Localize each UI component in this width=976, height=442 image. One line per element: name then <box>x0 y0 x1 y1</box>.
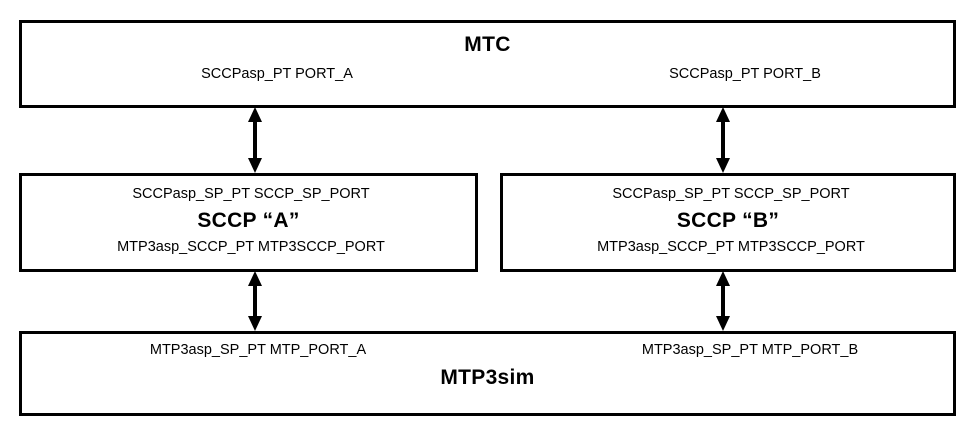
connector-sccp-a-to-mtp3sim-double-arrow-icon <box>243 271 267 331</box>
mtc-title: MTC <box>22 33 953 57</box>
component-box-sccp-a: SCCPasp_SP_PT SCCP_SP_PORT SCCP “A” MTP3… <box>19 173 478 272</box>
mtp3sim-port-a-label: MTP3asp_SP_PT MTP_PORT_A <box>150 342 366 358</box>
sccp-a-upper-ports-label: SCCPasp_SP_PT SCCP_SP_PORT <box>132 186 369 202</box>
component-box-mtc: MTC SCCPasp_PT PORT_A SCCPasp_PT PORT_B <box>19 20 956 108</box>
component-box-sccp-b: SCCPasp_SP_PT SCCP_SP_PORT SCCP “B” MTP3… <box>500 173 956 272</box>
connector-mtc-to-sccp-b-double-arrow-icon <box>711 107 735 173</box>
mtc-port-b-label: SCCPasp_PT PORT_B <box>669 66 821 82</box>
sccp-b-lower-ports-label: MTP3asp_SCCP_PT MTP3SCCP_PORT <box>597 239 865 255</box>
mtp3sim-title: MTP3sim <box>22 366 953 390</box>
component-box-mtp3sim: MTP3asp_SP_PT MTP_PORT_A MTP3asp_SP_PT M… <box>19 331 956 416</box>
sccp-b-upper-ports-label: SCCPasp_SP_PT SCCP_SP_PORT <box>612 186 849 202</box>
sccp-a-lower-ports-label: MTP3asp_SCCP_PT MTP3SCCP_PORT <box>117 239 385 255</box>
mtp3sim-port-b-label: MTP3asp_SP_PT MTP_PORT_B <box>642 342 858 358</box>
connector-mtc-to-sccp-a-double-arrow-icon <box>243 107 267 173</box>
sccp-b-title: SCCP “B” <box>503 209 953 233</box>
mtc-port-a-label: SCCPasp_PT PORT_A <box>201 66 353 82</box>
sccp-a-title: SCCP “A” <box>22 209 475 233</box>
diagram-canvas: MTC SCCPasp_PT PORT_A SCCPasp_PT PORT_B … <box>0 0 976 442</box>
connector-sccp-b-to-mtp3sim-double-arrow-icon <box>711 271 735 331</box>
